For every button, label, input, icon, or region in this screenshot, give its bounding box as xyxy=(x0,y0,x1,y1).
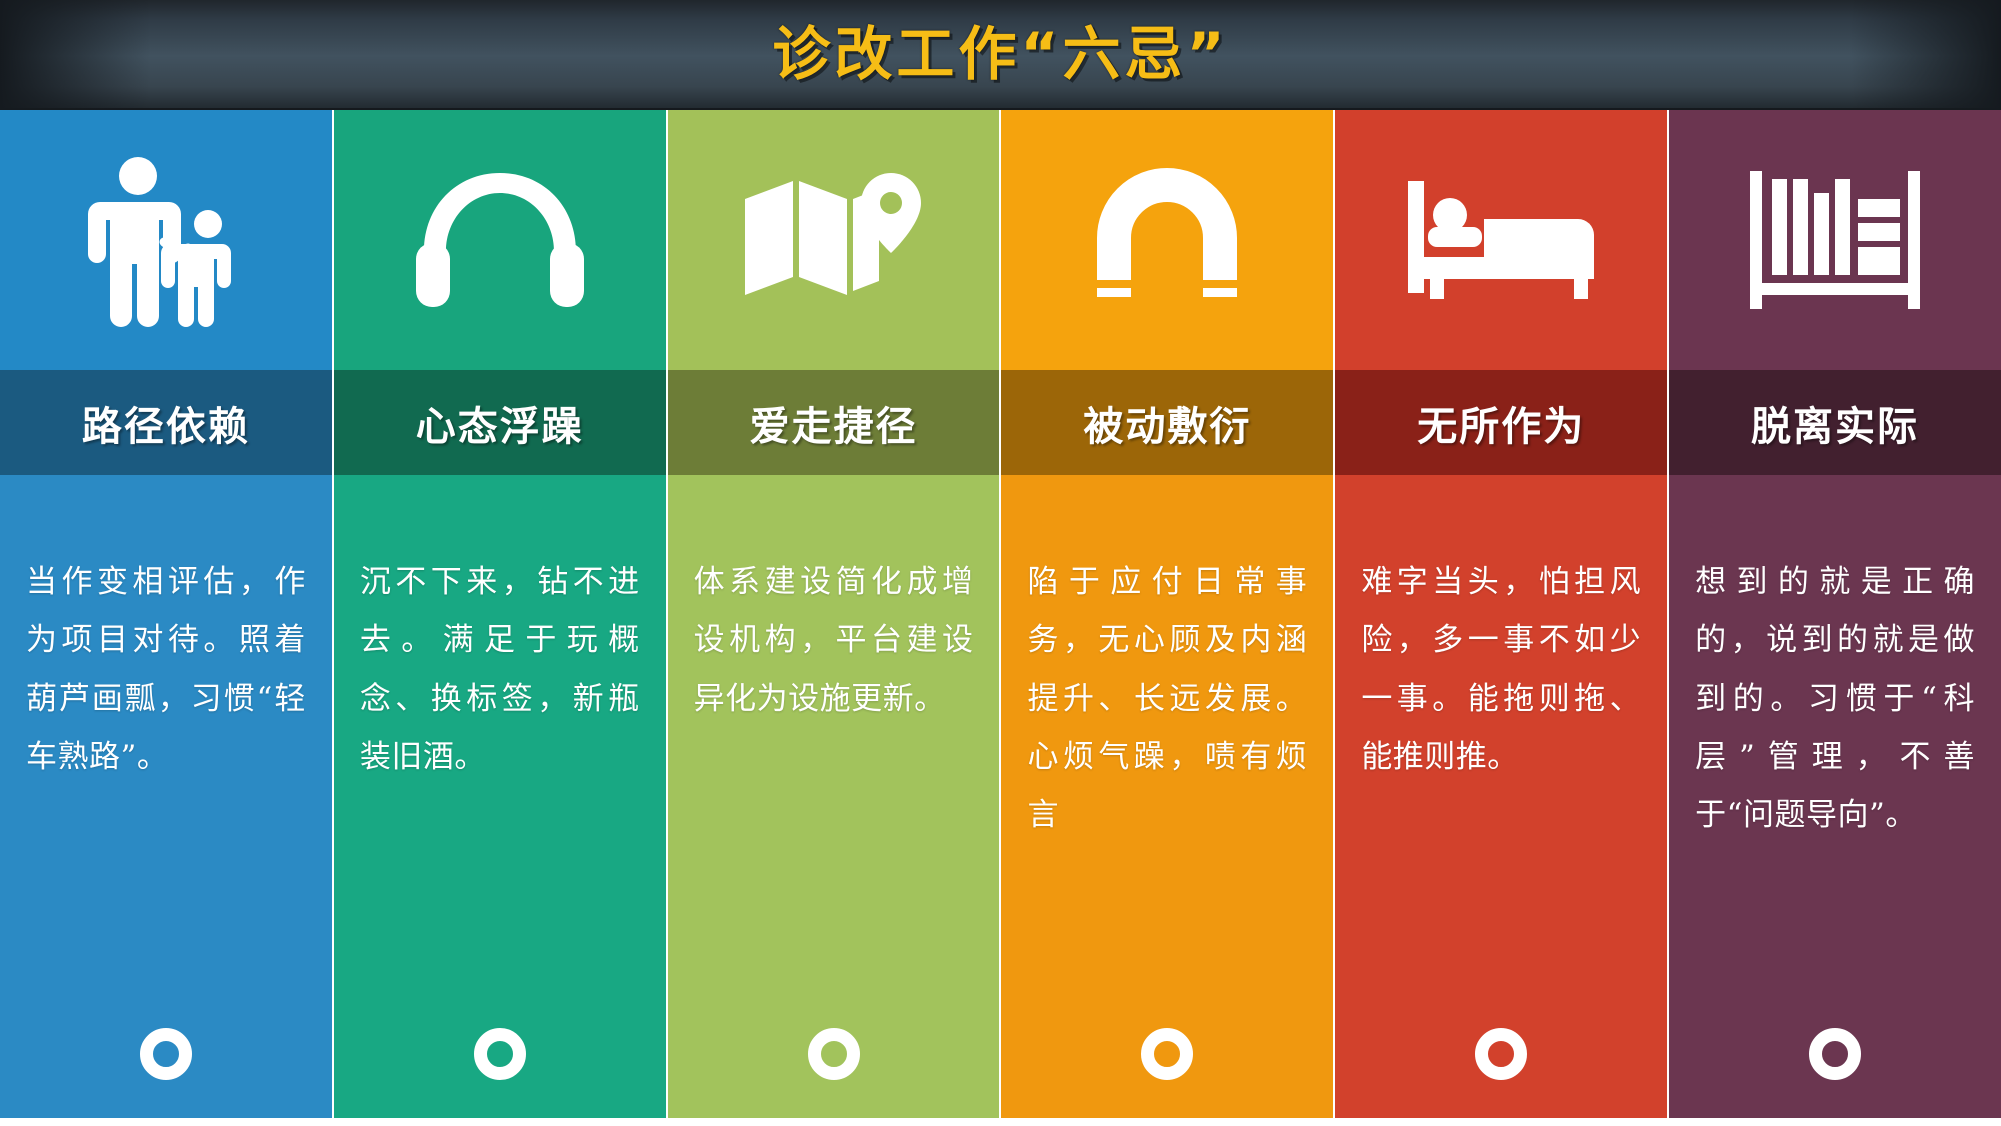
column-passive-perfunctory[interactable]: 被动敷衍 陷于应付日常事务，无心顾及内涵提升、长远发展。心烦气躁，啧有烦言 xyxy=(999,110,1333,1126)
column-label: 脱离实际 xyxy=(1751,394,1919,452)
ring-marker xyxy=(140,1028,192,1080)
label-band-1: 路径依赖 xyxy=(0,370,332,475)
ring-marker-wrap-4 xyxy=(1001,1028,1333,1080)
body-band-6: 想到的就是正确的，说到的就是做到的。习惯于“科层”管理，不善于“问题导向”。 xyxy=(1669,475,2001,1126)
ring-marker-wrap-5 xyxy=(1335,1028,1667,1080)
label-band-6: 脱离实际 xyxy=(1669,370,2001,475)
column-label: 无所作为 xyxy=(1417,394,1585,452)
label-band-5: 无所作为 xyxy=(1335,370,1667,475)
magnet-icon xyxy=(1082,160,1252,320)
icon-band-3 xyxy=(668,110,1000,370)
bottom-baseline xyxy=(0,1118,2001,1126)
title-bar-right-shade xyxy=(1851,0,2001,110)
column-body-text: 难字当头，怕担风险，多一事不如少一事。能拖则拖、能推则推。 xyxy=(1357,553,1645,786)
body-band-1: 当作变相评估，作为项目对待。照着葫芦画瓢，习惯“轻车熟路”。 xyxy=(0,475,332,1126)
column-label: 心态浮躁 xyxy=(416,394,584,452)
column-label: 爱走捷径 xyxy=(750,394,918,452)
bookshelf-icon xyxy=(1750,165,1920,315)
body-band-3: 体系建设简化成增设机构，平台建设异化为设施更新。 xyxy=(668,475,1000,1126)
column-impatient-mindset[interactable]: 心态浮躁 沉不下来，钻不进去。满足于玩概念、换标签，新瓶装旧酒。 xyxy=(332,110,666,1126)
title-bar-left-shade xyxy=(0,0,150,110)
ring-marker-wrap-3 xyxy=(668,1028,1000,1080)
icon-band-2 xyxy=(334,110,666,370)
column-body-text: 陷于应付日常事务，无心顾及内涵提升、长远发展。心烦气躁，啧有烦言 xyxy=(1023,553,1311,844)
parent-and-child-icon xyxy=(76,150,256,330)
icon-band-1 xyxy=(0,110,332,370)
ring-marker xyxy=(1809,1028,1861,1080)
column-body-text: 当作变相评估，作为项目对待。照着葫芦画瓢，习惯“轻车熟路”。 xyxy=(22,553,310,786)
ring-marker xyxy=(1141,1028,1193,1080)
column-body-text: 体系建设简化成增设机构，平台建设异化为设施更新。 xyxy=(690,553,978,728)
column-detached-from-reality[interactable]: 脱离实际 想到的就是正确的，说到的就是做到的。习惯于“科层”管理，不善于“问题导… xyxy=(1667,110,2001,1126)
label-band-4: 被动敷衍 xyxy=(1001,370,1333,475)
label-band-2: 心态浮躁 xyxy=(334,370,666,475)
page-title: 诊改工作“六忌” xyxy=(772,25,1228,83)
body-band-4: 陷于应付日常事务，无心顾及内涵提升、长远发展。心烦气躁，啧有烦言 xyxy=(1001,475,1333,1126)
column-label: 被动敷衍 xyxy=(1083,394,1251,452)
map-pin-icon xyxy=(739,165,929,315)
label-band-3: 爱走捷径 xyxy=(668,370,1000,475)
ring-marker xyxy=(1475,1028,1527,1080)
column-body-text: 想到的就是正确的，说到的就是做到的。习惯于“科层”管理，不善于“问题导向”。 xyxy=(1691,553,1979,844)
ring-marker-wrap-6 xyxy=(1669,1028,2001,1080)
icon-band-4 xyxy=(1001,110,1333,370)
ring-marker xyxy=(808,1028,860,1080)
column-label: 路径依赖 xyxy=(82,394,250,452)
column-body-text: 沉不下来，钻不进去。满足于玩概念、换标签，新瓶装旧酒。 xyxy=(356,553,644,786)
icon-band-5 xyxy=(1335,110,1667,370)
columns-container: 路径依赖 当作变相评估，作为项目对待。照着葫芦画瓢，习惯“轻车熟路”。 xyxy=(0,110,2001,1126)
column-inaction[interactable]: 无所作为 难字当头，怕担风险，多一事不如少一事。能拖则拖、能推则推。 xyxy=(1333,110,1667,1126)
ring-marker-wrap-2 xyxy=(334,1028,666,1080)
headphones-icon xyxy=(410,165,590,315)
icon-band-6 xyxy=(1669,110,2001,370)
ring-marker xyxy=(474,1028,526,1080)
body-band-2: 沉不下来，钻不进去。满足于玩概念、换标签，新瓶装旧酒。 xyxy=(334,475,666,1126)
bed-icon xyxy=(1406,175,1596,305)
column-shortcut-seeking[interactable]: 爱走捷径 体系建设简化成增设机构，平台建设异化为设施更新。 xyxy=(666,110,1000,1126)
body-band-5: 难字当头，怕担风险，多一事不如少一事。能拖则拖、能推则推。 xyxy=(1335,475,1667,1126)
title-bar: 诊改工作“六忌” xyxy=(0,0,2001,110)
infographic-poster: 诊改工作“六忌” 路径依 xyxy=(0,0,2001,1126)
column-path-dependence[interactable]: 路径依赖 当作变相评估，作为项目对待。照着葫芦画瓢，习惯“轻车熟路”。 xyxy=(0,110,332,1126)
ring-marker-wrap-1 xyxy=(0,1028,332,1080)
